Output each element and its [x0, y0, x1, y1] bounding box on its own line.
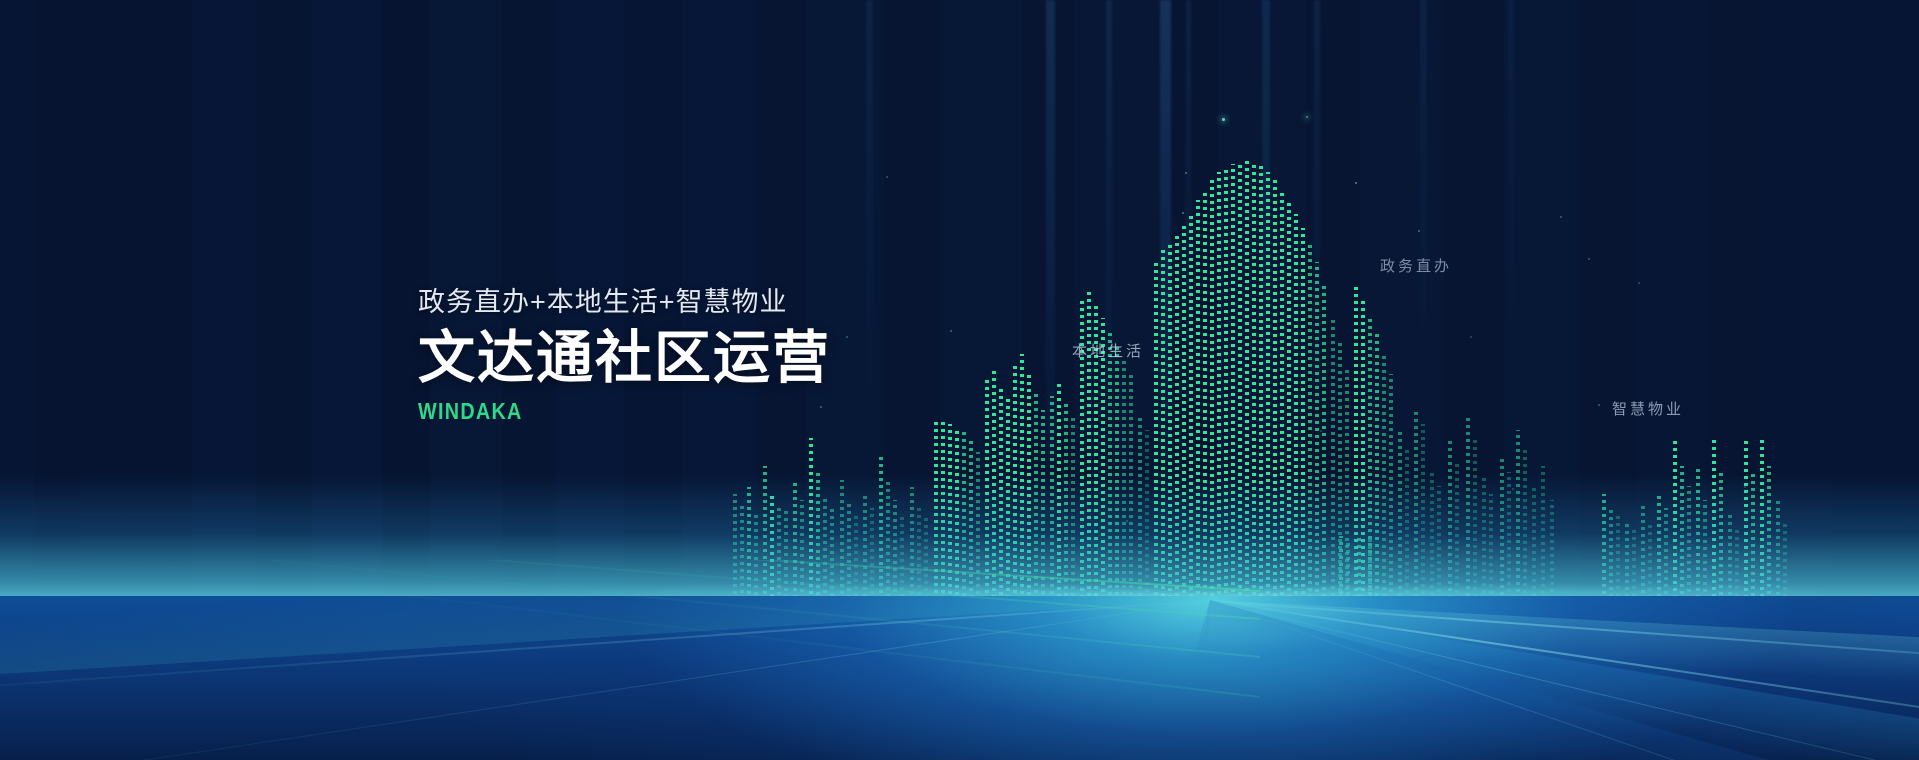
skyline-column: [1664, 508, 1668, 600]
skyline-column: [962, 432, 966, 600]
skyline-column: [1523, 448, 1527, 600]
skyline-label-local-life: 本地生活: [1072, 340, 1144, 361]
skyline-column: [1027, 372, 1031, 600]
skyline-column: [1776, 498, 1780, 600]
skyline-column: [763, 466, 767, 600]
skyline-column: [754, 512, 758, 600]
skyline-column: [1421, 424, 1425, 600]
skyline-column: [1331, 320, 1335, 600]
skyline-column: [1489, 494, 1493, 600]
skyline-column: [800, 500, 804, 600]
ground-perspective-ray: [1210, 600, 1919, 760]
skyline-column: [917, 505, 921, 600]
skyline-column: [847, 503, 851, 600]
headline-block: 政务直办+本地生活+智慧物业 文达通社区运营 WINDAKA: [418, 288, 831, 425]
skyline-column: [816, 470, 820, 600]
skyline-column: [1020, 354, 1024, 600]
skyline-column: [1259, 166, 1263, 600]
skyline-column: [1203, 190, 1207, 600]
skyline-column: [1609, 506, 1613, 600]
skyline-column: [1189, 212, 1193, 600]
skyline-column: [1301, 228, 1305, 600]
skyline-column: [1602, 494, 1606, 600]
skyline-column: [955, 428, 959, 600]
skyline-column: [1161, 250, 1165, 600]
skyline-column: [893, 500, 897, 600]
skyline-column: [1231, 164, 1235, 600]
skyline-column: [1696, 468, 1700, 600]
skyline-column: [1466, 418, 1470, 600]
skyline-column: [1006, 398, 1010, 600]
skyline-column: [1252, 162, 1256, 600]
ground-wedge: [0, 596, 1210, 698]
skyline-column: [1482, 476, 1486, 600]
skyline-column: [830, 509, 834, 600]
skyline-column: [934, 420, 938, 600]
skyline-column: [1541, 466, 1545, 600]
skyline-column: [1751, 474, 1755, 600]
skyline-column: [1430, 470, 1434, 600]
skyline-column: [1414, 408, 1418, 600]
skyline-column: [1687, 486, 1691, 600]
skyline-column: [1728, 512, 1732, 600]
skyline-column: [976, 452, 980, 600]
skyline-column: [886, 478, 890, 600]
skyline-column: [1138, 418, 1142, 600]
skyline-column: [1516, 430, 1520, 600]
skyline-column: [784, 510, 788, 600]
skyline-column: [1744, 440, 1748, 600]
skyline-column: [1767, 466, 1771, 600]
skyline-column: [1703, 500, 1707, 600]
skyline-column: [1115, 344, 1119, 600]
skyline-column: [840, 480, 844, 600]
promo-banner: 政务直办 本地生活 智慧物业 政务直办+本地生活+智慧物业 文达通社区运营 WI…: [0, 0, 1919, 760]
skyline-column: [740, 504, 744, 600]
skyline-column: [1322, 282, 1326, 600]
skyline-column: [1315, 262, 1319, 600]
skyline-column: [1245, 160, 1249, 600]
skyline-column: [1389, 374, 1393, 600]
skyline-column: [1616, 516, 1620, 600]
skyline-column: [1013, 364, 1017, 600]
skyline-column: [1361, 300, 1365, 600]
skyline-column: [1507, 472, 1511, 600]
skyline-column: [1625, 520, 1629, 600]
skyline-column: [1122, 358, 1126, 600]
skyline-label-smart-property: 智慧物业: [1612, 398, 1684, 419]
skyline-column: [733, 494, 737, 600]
skyline-column: [1196, 200, 1200, 600]
skyline-column: [854, 516, 858, 600]
brand-wordmark: WINDAKA: [418, 398, 773, 425]
skyline-column: [1448, 440, 1452, 600]
skyline-column: [1632, 530, 1636, 600]
skyline-column: [1280, 190, 1284, 600]
skyline-column: [1224, 168, 1228, 600]
ground-perspective-ray: [1210, 600, 1919, 760]
skyline-column: [910, 487, 914, 600]
skyline-column: [1657, 492, 1661, 600]
skyline-column: [1500, 456, 1504, 600]
perspective-ground-plane: [0, 596, 1919, 760]
skyline-column: [1641, 504, 1645, 600]
skyline-column: [1532, 488, 1536, 600]
ground-perspective-ray: [1210, 600, 1919, 760]
skyline-column: [1273, 180, 1277, 600]
skyline-column: [1357, 534, 1361, 600]
ground-wedge: [1208, 600, 1919, 730]
skyline-column: [793, 482, 797, 600]
skyline-column: [1175, 236, 1179, 600]
skyline-column: [1735, 530, 1739, 600]
skyline-column: [1398, 432, 1402, 600]
banner-subtitle: 政务直办+本地生活+智慧物业: [418, 288, 831, 318]
skyline-column: [1346, 540, 1350, 600]
skyline-column: [777, 505, 781, 600]
skyline-column: [1382, 352, 1386, 600]
skyline-column: [1217, 172, 1221, 600]
skyline-column: [1071, 418, 1075, 600]
skyline-column: [1712, 436, 1716, 600]
skyline-column: [1145, 430, 1149, 600]
skyline-column: [870, 508, 874, 600]
skyline-label-government: 政务直办: [1380, 255, 1452, 276]
skyline-column: [1238, 162, 1242, 600]
skyline-column: [1473, 436, 1477, 600]
skyline-column: [1455, 462, 1459, 600]
skyline-column: [1405, 448, 1409, 600]
skyline-column: [941, 420, 945, 600]
skyline-column: [1168, 244, 1172, 600]
skyline-column: [1266, 172, 1270, 600]
skyline-column: [969, 440, 973, 600]
skyline-column: [1057, 380, 1061, 600]
skyline-column: [999, 386, 1003, 600]
skyline-column: [1680, 466, 1684, 600]
skyline-column: [1308, 244, 1312, 600]
skyline-column: [1368, 538, 1372, 600]
skyline-column: [1550, 500, 1554, 600]
skyline-column: [1719, 470, 1723, 600]
skyline-column: [900, 513, 904, 600]
skyline-column: [879, 455, 883, 600]
skyline-column: [1287, 202, 1291, 600]
skyline-column: [1041, 410, 1045, 600]
skyline-column: [1210, 180, 1214, 600]
skyline-column: [985, 378, 989, 600]
skyline-column: [1182, 224, 1186, 600]
skyline-column: [823, 497, 827, 600]
skyline-column: [1648, 524, 1652, 600]
skyline-column: [992, 370, 996, 600]
ground-perspective-ray: [0, 600, 1210, 760]
skyline-column: [770, 492, 774, 600]
skyline-column: [1375, 334, 1379, 600]
skyline-column: [1050, 396, 1054, 600]
page-title: 文达通社区运营: [418, 329, 831, 389]
skyline-column: [1108, 330, 1112, 600]
skyline-column: [1034, 392, 1038, 600]
skyline-column: [1437, 486, 1441, 600]
skyline-column: [1154, 260, 1158, 600]
skyline-column: [1760, 436, 1764, 600]
skyline-column: [1673, 440, 1677, 600]
skyline-column: [747, 487, 751, 600]
skyline-column: [809, 438, 813, 600]
skyline-column: [1064, 404, 1068, 600]
skyline-column: [1294, 214, 1298, 600]
skyline-column: [1339, 536, 1343, 600]
skyline-column: [1129, 372, 1133, 600]
skyline-column: [1783, 520, 1787, 600]
skyline-column: [1087, 292, 1091, 600]
skyline-column: [924, 517, 928, 600]
skyline-column: [863, 492, 867, 600]
skyline-column: [948, 424, 952, 600]
ground-wedge: [1191, 600, 1919, 760]
